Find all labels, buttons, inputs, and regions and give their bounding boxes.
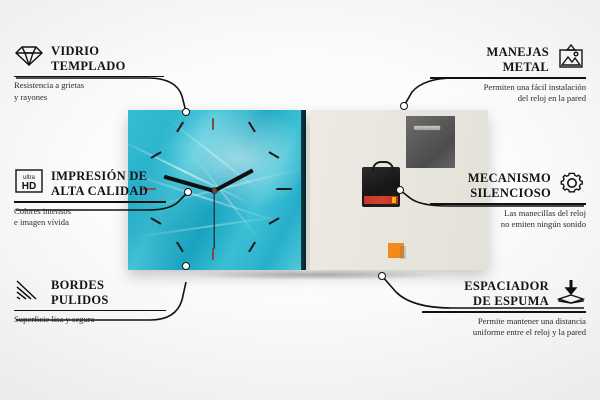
feature-description: Las manecillas del reloj no emiten ningú… — [430, 208, 586, 232]
feature-description: Colores intensos e imagen vívida — [14, 206, 166, 230]
callout-dot-glass — [182, 108, 190, 116]
svg-text:HD: HD — [22, 181, 36, 192]
feature-divider — [430, 203, 586, 205]
feature-divider — [14, 201, 166, 203]
callout-dot-hooks — [400, 102, 408, 110]
feature-title: IMPRESIÓN DE ALTA CALIDAD — [51, 169, 148, 199]
feature-header: MECANISMO SILENCIOSO — [430, 170, 586, 201]
diamond-icon — [14, 44, 44, 73]
feature-title: BORDES PULIDOS — [51, 278, 109, 308]
infographic-canvas: VIDRIO TEMPLADO Resistencia a grietas y … — [0, 0, 600, 400]
foam-spacer-icon — [556, 278, 586, 309]
feature-header: VIDRIO TEMPLADO — [14, 44, 164, 74]
feature-description: Permiten una fácil instalación del reloj… — [430, 82, 586, 106]
feature-header: BORDES PULIDOS — [14, 278, 166, 308]
callout-dot-spacer — [378, 272, 386, 280]
feature-divider — [430, 77, 586, 79]
feature-header: ESPACIADOR DE ESPUMA — [422, 278, 586, 309]
feature-divider — [14, 76, 164, 78]
feature-divider — [422, 311, 586, 313]
feature-bordes-pulidos: BORDES PULIDOS Superficie lisa y segura — [14, 278, 166, 326]
ultra-hd-icon: ultra HD — [14, 168, 44, 199]
picture-hanger-icon — [556, 44, 586, 75]
feature-title: MANEJAS METAL — [486, 45, 549, 75]
feature-vidrio-templado: VIDRIO TEMPLADO Resistencia a grietas y … — [14, 44, 164, 104]
feature-title: ESPACIADOR DE ESPUMA — [464, 279, 549, 309]
callout-dot-mechanism — [396, 186, 404, 194]
polished-edges-icon — [14, 278, 44, 307]
feature-header: ultra HD IMPRESIÓN DE ALTA CALIDAD — [14, 168, 166, 199]
feature-description: Resistencia a grietas y rayones — [14, 80, 164, 104]
feature-divider — [14, 310, 166, 312]
feature-impresion-alta-calidad: ultra HD IMPRESIÓN DE ALTA CALIDAD Color… — [14, 168, 166, 229]
feature-header: MANEJAS METAL — [430, 44, 586, 75]
feature-mecanismo-silencioso: MECANISMO SILENCIOSO Las manecillas del … — [430, 170, 586, 231]
feature-espaciador-espuma: ESPACIADOR DE ESPUMA Permite mantener un… — [422, 278, 586, 339]
callout-dot-print — [184, 188, 192, 196]
feature-description: Superficie lisa y segura — [14, 314, 166, 326]
feature-title: MECANISMO SILENCIOSO — [468, 171, 551, 201]
feature-description: Permite mantener una distancia uniforme … — [422, 316, 586, 340]
callout-dot-edges — [182, 262, 190, 270]
gear-icon — [558, 170, 586, 201]
feature-manejas-metal: MANEJAS METAL Permiten una fácil instala… — [430, 44, 586, 105]
feature-title: VIDRIO TEMPLADO — [51, 44, 126, 74]
